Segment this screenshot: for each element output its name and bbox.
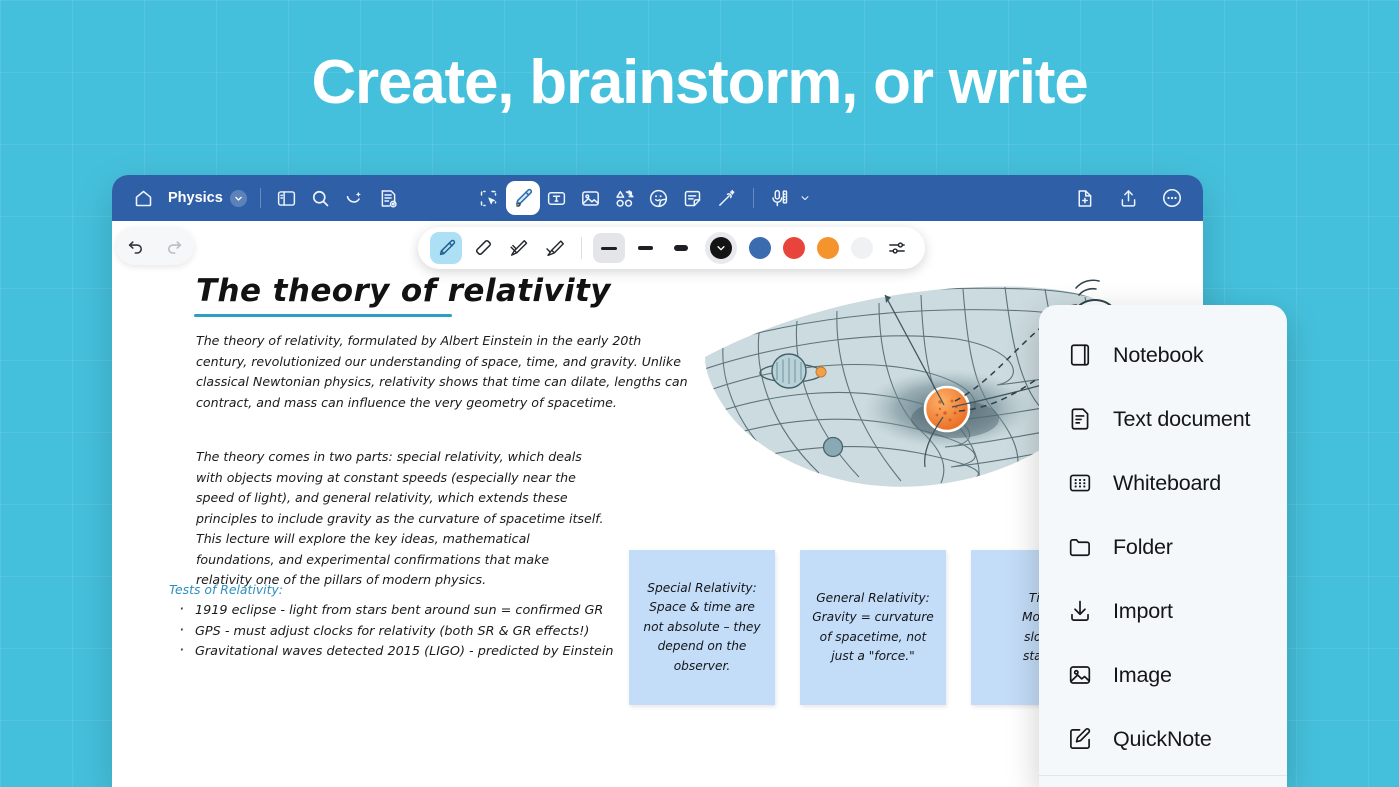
list-item: GPS - must adjust clocks for relativity … xyxy=(169,622,614,643)
menu-item-label: QuickNote xyxy=(1113,727,1212,752)
menu-item-label: Whiteboard xyxy=(1113,471,1221,496)
document-name-chip[interactable]: Physics xyxy=(160,190,251,207)
menu-item-label: Import xyxy=(1113,599,1173,624)
more-options-icon[interactable] xyxy=(1155,181,1189,215)
magic-wand-icon[interactable] xyxy=(710,181,744,215)
menu-item-import[interactable]: Import xyxy=(1039,579,1287,643)
folder-icon xyxy=(1065,534,1095,560)
stroke-width-thick[interactable] xyxy=(665,233,697,263)
history-controls xyxy=(116,227,194,265)
title-underline xyxy=(194,314,452,317)
document-name-label: Physics xyxy=(168,190,223,206)
pen-icon[interactable] xyxy=(506,181,540,215)
search-icon[interactable] xyxy=(304,181,338,215)
list-item: Gravitational waves detected 2015 (LIGO)… xyxy=(169,642,614,663)
stroke-width-medium[interactable] xyxy=(629,233,661,263)
whiteboard-icon xyxy=(1065,470,1095,496)
color-swatch-orange[interactable] xyxy=(817,237,839,259)
color-swatch-more[interactable] xyxy=(851,237,873,259)
pen-toolbar-divider xyxy=(581,237,582,259)
menu-item-label: Folder xyxy=(1113,535,1173,560)
sticker-icon[interactable] xyxy=(642,181,676,215)
paragraph-1: The theory of relativity, formulated by … xyxy=(196,331,688,413)
pen-toolbar xyxy=(418,227,925,269)
home-icon[interactable] xyxy=(126,181,160,215)
create-menu: Notebook Text document xyxy=(1039,305,1287,787)
sticky-note[interactable]: Special Relativity: Space & time are not… xyxy=(629,550,775,705)
menu-item-text-document[interactable]: Text document xyxy=(1039,387,1287,451)
notebook-icon xyxy=(1065,342,1095,368)
toolbar-divider xyxy=(260,188,261,208)
chevron-down-icon-mic[interactable] xyxy=(797,181,813,215)
text-box-icon[interactable] xyxy=(540,181,574,215)
import-icon xyxy=(1065,598,1095,624)
brush-pen-icon[interactable] xyxy=(502,232,534,264)
shapes-icon[interactable] xyxy=(608,181,642,215)
menu-item-label: Text document xyxy=(1113,407,1250,432)
menu-item-image[interactable]: Image xyxy=(1039,643,1287,707)
text-document-icon xyxy=(1065,406,1095,432)
quicknote-icon xyxy=(1065,726,1095,752)
undo-icon[interactable] xyxy=(122,232,150,260)
menu-item-label: Notebook xyxy=(1113,343,1203,368)
redo-icon[interactable] xyxy=(161,232,189,260)
stroke-width-thin[interactable] xyxy=(593,233,625,263)
page-overview-icon[interactable] xyxy=(372,181,406,215)
page-title: The theory of relativity xyxy=(196,273,611,309)
color-swatch-red[interactable] xyxy=(783,237,805,259)
menu-item-notebook[interactable]: Notebook xyxy=(1039,323,1287,387)
app-toolbar: Physics xyxy=(112,175,1203,221)
tests-heading: Tests of Relativity: xyxy=(169,582,283,597)
screenshot-root: Create, brainstorm, or write Physics xyxy=(0,0,1399,787)
menu-footer xyxy=(1039,776,1287,787)
list-item: 1919 eclipse - light from stars bent aro… xyxy=(169,601,614,622)
chevron-down-icon[interactable] xyxy=(230,190,247,207)
ai-sparkle-icon[interactable] xyxy=(338,181,372,215)
sticky-note[interactable]: General Relativity: Gravity = curvature … xyxy=(800,550,946,705)
microphone-icon[interactable] xyxy=(763,181,797,215)
sticky-note-icon[interactable] xyxy=(676,181,710,215)
lasso-select-icon[interactable] xyxy=(472,181,506,215)
add-page-icon[interactable] xyxy=(1067,181,1101,215)
share-icon[interactable] xyxy=(1111,181,1145,215)
menu-item-folder[interactable]: Folder xyxy=(1039,515,1287,579)
hero-headline: Create, brainstorm, or write xyxy=(0,52,1399,114)
pen-settings-icon[interactable] xyxy=(881,232,913,264)
color-swatch-black[interactable] xyxy=(710,237,732,259)
eraser-tool-icon[interactable] xyxy=(466,232,498,264)
menu-item-label: Image xyxy=(1113,663,1172,688)
highlighter-icon[interactable] xyxy=(538,232,570,264)
paragraph-2: The theory comes in two parts: special r… xyxy=(196,447,606,591)
image-icon[interactable] xyxy=(574,181,608,215)
toolbar-divider-2 xyxy=(753,188,754,208)
tests-list: 1919 eclipse - light from stars bent aro… xyxy=(169,601,614,663)
menu-item-whiteboard[interactable]: Whiteboard xyxy=(1039,451,1287,515)
color-swatch-blue[interactable] xyxy=(749,237,771,259)
pen-tool-icon[interactable] xyxy=(430,232,462,264)
menu-item-quicknote[interactable]: QuickNote xyxy=(1039,707,1287,771)
sidebar-toggle-icon[interactable] xyxy=(270,181,304,215)
image-icon xyxy=(1065,662,1095,688)
